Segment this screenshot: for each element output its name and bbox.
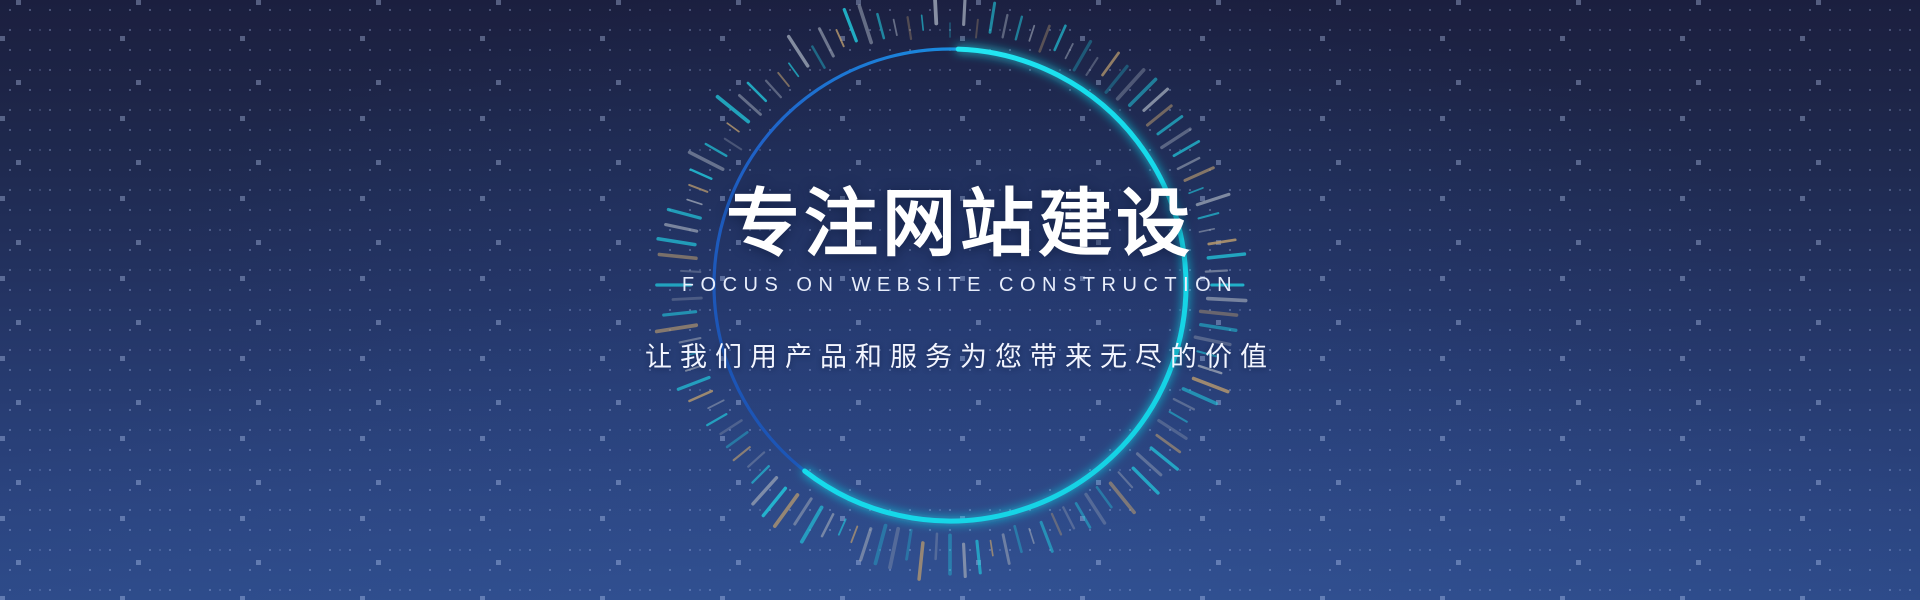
hero-text-block: 专注网站建设 FOCUS ON WEBSITE CONSTRUCTION 让我们… — [0, 0, 1920, 600]
tagline-chinese: 让我们用产品和服务为您带来无尽的价值 — [645, 335, 1275, 374]
page-title: 专注网站建设 — [726, 186, 1194, 264]
hero-banner: 专注网站建设 FOCUS ON WEBSITE CONSTRUCTION 让我们… — [0, 0, 1920, 600]
subtitle-english: FOCUS ON WEBSITE CONSTRUCTION — [682, 274, 1238, 297]
